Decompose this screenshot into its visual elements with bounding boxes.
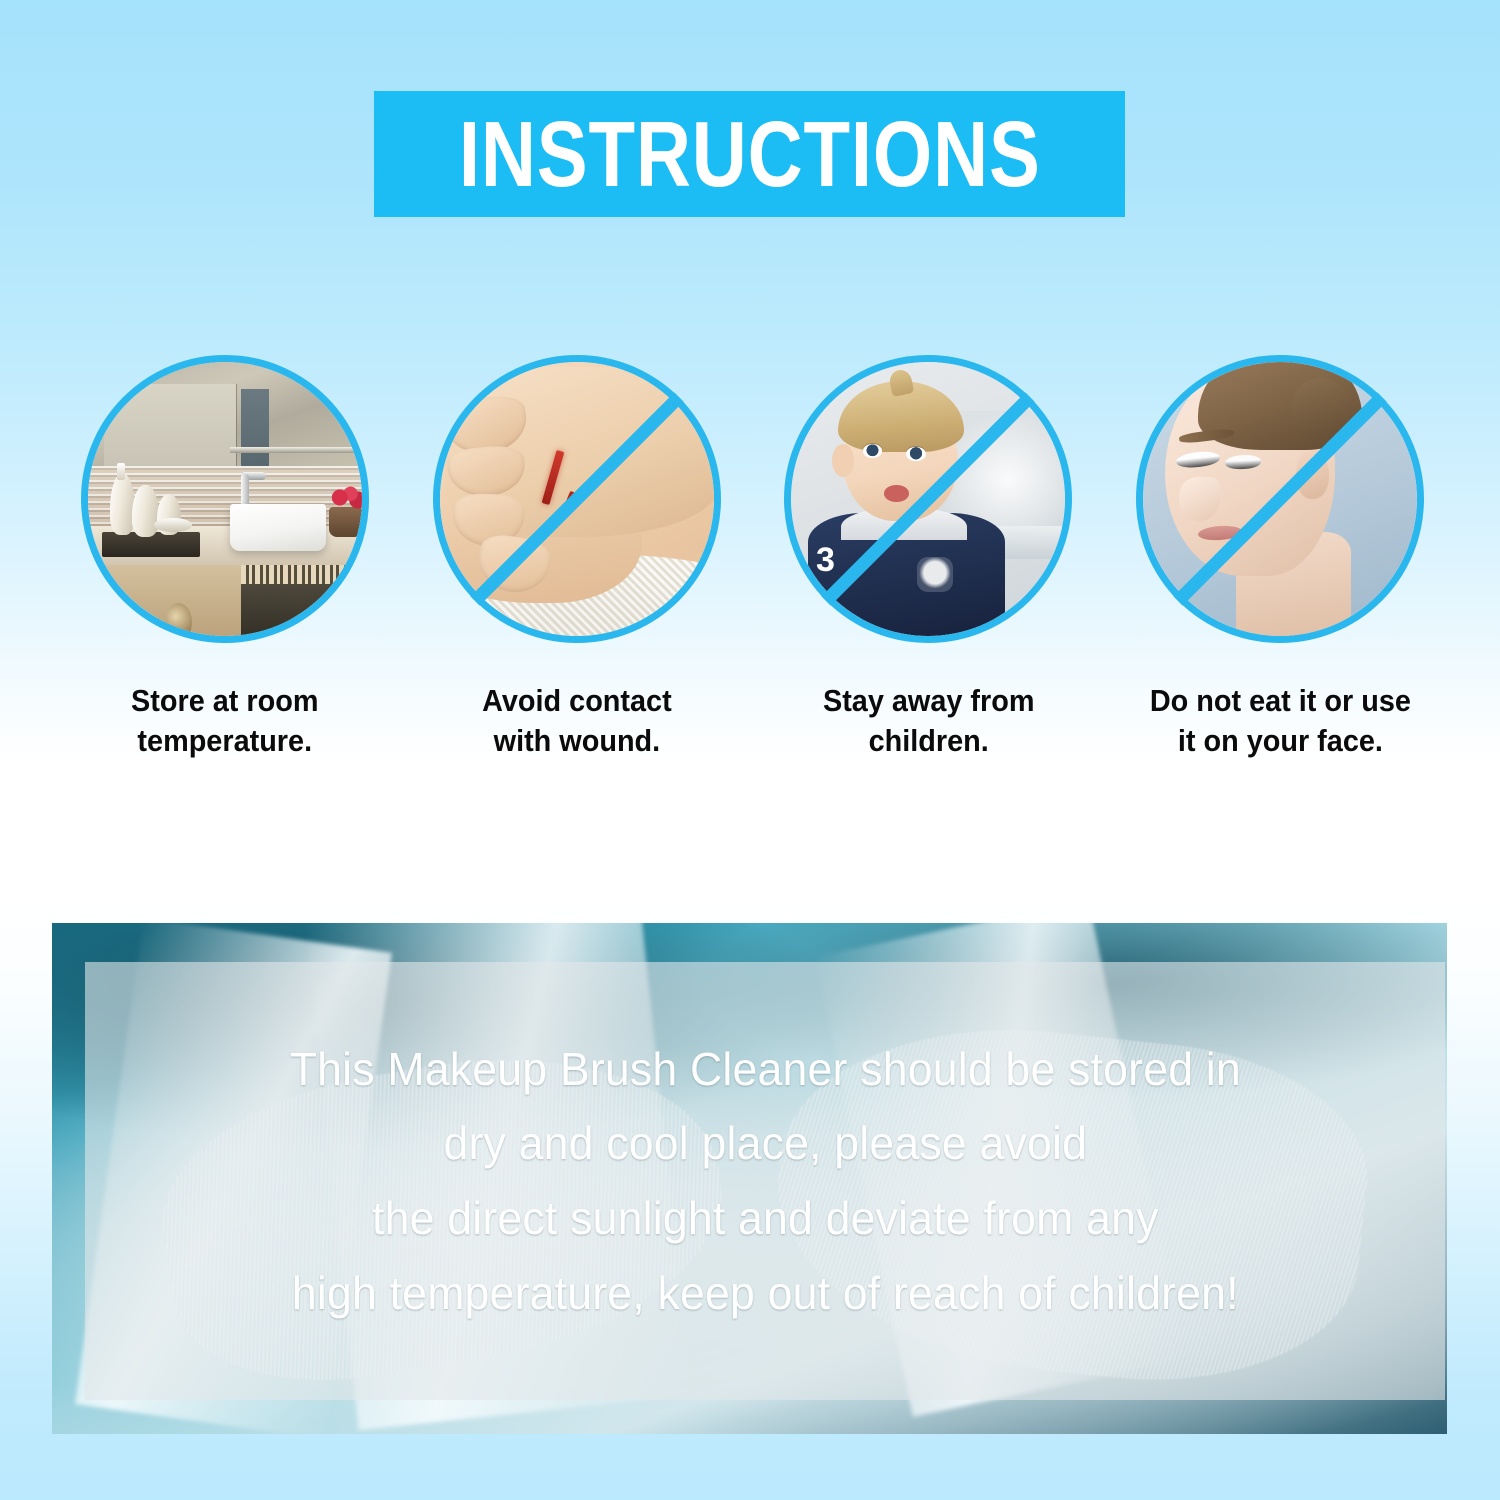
greek-key-trim <box>241 565 362 584</box>
faucet-stem <box>241 474 248 507</box>
hair-bun <box>1291 378 1351 438</box>
storage-note-overlay: This Makeup Brush Cleaner should be stor… <box>85 962 1445 1400</box>
flowers <box>329 485 362 510</box>
cabinet-knob <box>165 603 192 636</box>
instruction-item-store-room-temperature: Store at room temperature. <box>60 355 390 760</box>
shirt-crest <box>917 557 953 593</box>
bathroom-photo <box>81 355 369 643</box>
instruction-image-wrap <box>1136 355 1424 643</box>
instruction-item-avoid-wound-contact: Avoid contact with wound. <box>412 355 742 760</box>
instruction-image-wrap <box>433 355 721 643</box>
woman-face-photo <box>1136 355 1424 643</box>
ceramic-jar <box>132 485 159 537</box>
instruction-caption: Avoid contact with wound. <box>482 681 672 760</box>
ceramic-jar <box>110 474 135 534</box>
child-eye <box>863 444 882 458</box>
flower-pot <box>329 507 362 537</box>
wounded-hand-scene <box>440 362 714 636</box>
vessel-sink <box>230 504 326 551</box>
storage-note-text: This Makeup Brush Cleaner should be stor… <box>289 1032 1240 1330</box>
jar-neck <box>117 463 125 479</box>
instruction-item-do-not-eat-or-use-on-face: Do not eat it or use it on your face. <box>1115 355 1445 760</box>
woman-face-scene <box>1143 362 1417 636</box>
shower-rail <box>230 447 356 453</box>
instruction-caption: Do not eat it or use it on your face. <box>1149 681 1410 760</box>
instruction-icon-row: Store at room temperature. <box>60 355 1445 760</box>
child-scene: 3 <box>791 362 1065 636</box>
child-mouth <box>884 485 909 501</box>
nose <box>1179 477 1220 521</box>
cabinet-shadow <box>241 581 362 636</box>
instruction-item-keep-away-from-children: 3 Stay away from children. <box>763 355 1093 760</box>
instructions-infographic: INSTRUCTIONS <box>0 0 1500 1500</box>
child-photo: 3 <box>784 355 1072 643</box>
ear <box>1296 450 1329 499</box>
instruction-caption: Stay away from children. <box>823 681 1035 760</box>
storage-note-panel: This Makeup Brush Cleaner should be stor… <box>52 923 1447 1434</box>
soap-dish <box>154 518 192 532</box>
sleeve-number: 3 <box>816 543 849 579</box>
instruction-caption: Store at room temperature. <box>131 681 318 760</box>
header-banner: INSTRUCTIONS <box>374 91 1125 217</box>
bathroom-scene <box>88 362 362 636</box>
wounded-hand-photo <box>433 355 721 643</box>
instruction-image-wrap <box>81 355 369 643</box>
child-eye <box>906 447 925 461</box>
instruction-image-wrap: 3 <box>784 355 1072 643</box>
page-title: INSTRUCTIONS <box>459 108 1041 201</box>
